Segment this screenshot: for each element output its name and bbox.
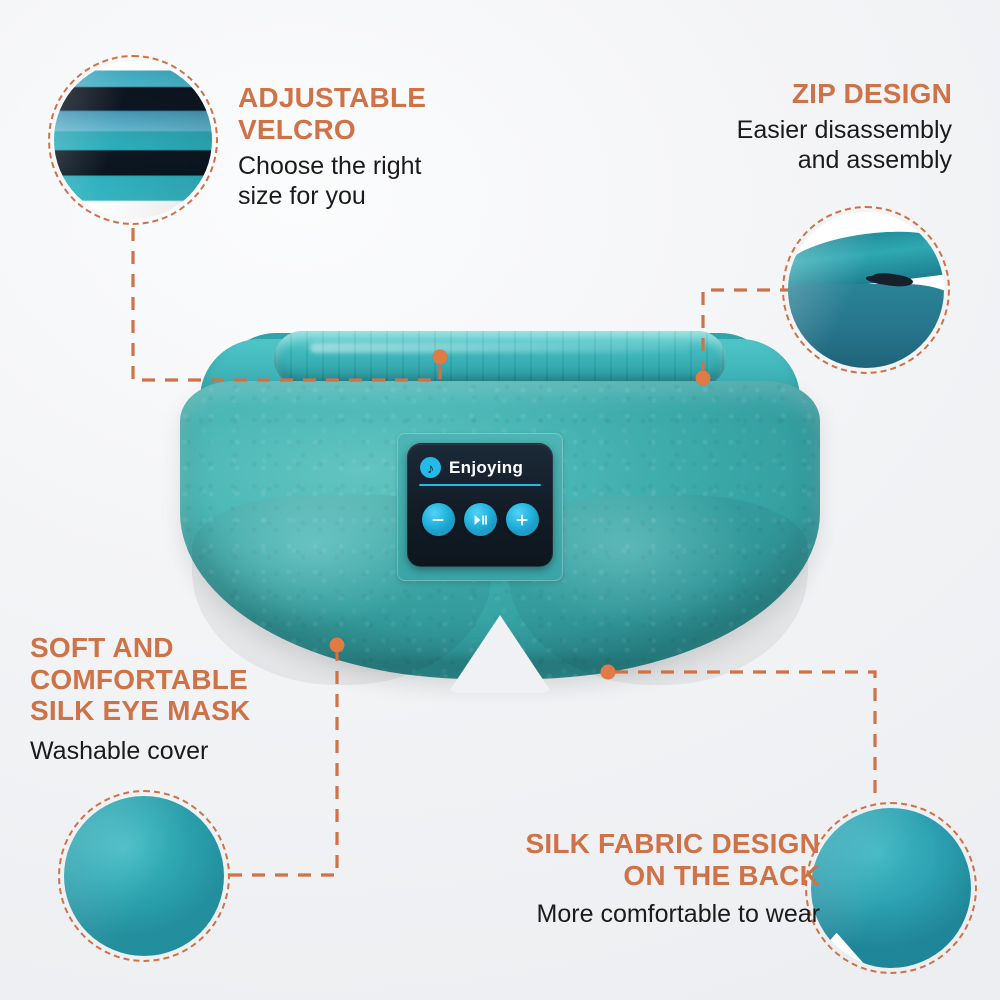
callout-text-zip: ZIP DESIGN Easier disassembly and assemb… bbox=[612, 78, 952, 175]
callout-subtext-zip: Easier disassembly and assembly bbox=[612, 115, 952, 175]
connector-dot-fabric bbox=[601, 665, 616, 680]
callout-image-velcro bbox=[48, 55, 218, 225]
velcro-strap-closeup bbox=[54, 61, 212, 219]
silk-back-closeup bbox=[811, 808, 971, 968]
callout-image-silk-back bbox=[805, 802, 977, 974]
callout-text-velcro: ADJUSTABLE VELCRO Choose the right size … bbox=[238, 82, 488, 211]
callout-subtext-velcro: Choose the right size for you bbox=[238, 151, 488, 211]
callout-text-soft: SOFT AND COMFORTABLE SILK EYE MASK Washa… bbox=[30, 632, 330, 766]
callout-image-silk-fabric bbox=[58, 790, 230, 962]
callout-heading-soft: SOFT AND COMFORTABLE SILK EYE MASK bbox=[30, 632, 330, 727]
connector-dot-velcro bbox=[433, 350, 448, 365]
callout-subtext-soft: Washable cover bbox=[30, 736, 330, 766]
silk-fabric-closeup bbox=[64, 796, 224, 956]
callout-image-zip bbox=[782, 206, 950, 374]
callout-heading-fabric: SILK FABRIC DESIGN ON THE BACK bbox=[400, 828, 820, 891]
callout-heading-velcro: ADJUSTABLE VELCRO bbox=[238, 82, 488, 145]
callout-subtext-fabric: More comfortable to wear bbox=[400, 899, 820, 929]
callout-heading-zip: ZIP DESIGN bbox=[612, 78, 952, 110]
product-infographic: ADJUSTABLE VELCRO Choose the right size … bbox=[0, 0, 1000, 1000]
zipper-closeup bbox=[788, 212, 944, 368]
connector-dot-soft bbox=[330, 638, 345, 653]
callout-text-fabric: SILK FABRIC DESIGN ON THE BACK More comf… bbox=[400, 828, 820, 929]
connector-dot-zip bbox=[696, 371, 711, 386]
